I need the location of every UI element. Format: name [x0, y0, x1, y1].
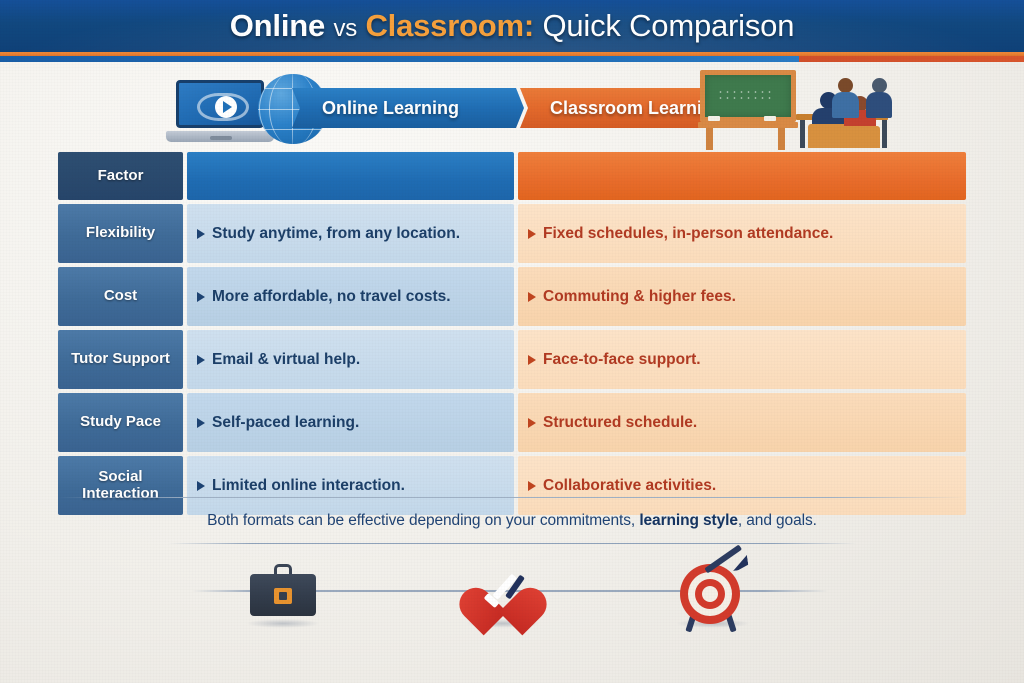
column-banner-row: Online Learning Classroom Learning	[0, 62, 1024, 150]
cell-online-cost-text: More affordable, no travel costs.	[212, 288, 451, 306]
triangle-bullet-icon	[197, 481, 205, 491]
target-arrow-icon	[658, 552, 768, 638]
header-banner: Online vs Classroom: Quick Comparison	[0, 0, 1024, 52]
play-button-icon	[215, 96, 237, 118]
row-label-social-interaction: Social Interaction	[58, 456, 183, 515]
checkmark-icon	[486, 582, 520, 602]
cell-classroom-social-interaction: Collaborative activities.	[518, 456, 966, 515]
table-row: Social Interaction Limited online intera…	[58, 456, 966, 515]
cell-online-social-interaction-text: Limited online interaction.	[212, 477, 405, 495]
footer-note-emphasis: learning style	[639, 512, 738, 529]
row-label-tutor-support: Tutor Support	[58, 330, 183, 389]
cell-classroom-tutor-support: Face-to-face support.	[518, 330, 966, 389]
column-header-classroom	[518, 152, 966, 200]
cell-classroom-social-interaction-text: Collaborative activities.	[543, 477, 716, 495]
cell-classroom-cost: Commuting & higher fees.	[518, 267, 966, 326]
column-header-factor: Factor	[58, 152, 183, 200]
student-head	[838, 78, 853, 93]
page-title: Online vs Classroom: Quick Comparison	[0, 0, 1024, 52]
triangle-bullet-icon	[197, 418, 205, 428]
title-part-vs: vs	[333, 15, 357, 42]
infographic-page: Online vs Classroom: Quick Comparison	[0, 0, 1024, 683]
briefcase-icon	[228, 552, 338, 638]
triangle-bullet-icon	[528, 292, 536, 302]
icon-shadow	[246, 619, 320, 628]
table-header-row: Factor	[58, 152, 966, 200]
laptop-screen	[176, 80, 264, 128]
cell-online-study-pace: Self-paced learning.	[187, 393, 514, 452]
cell-online-study-pace-text: Self-paced learning.	[212, 414, 359, 432]
cell-classroom-study-pace-text: Structured schedule.	[543, 414, 697, 432]
row-label-study-pace: Study Pace	[58, 393, 183, 452]
title-part-subtitle: Quick Comparison	[542, 8, 794, 43]
footer-note-before: Both formats can be effective depending …	[207, 512, 639, 529]
footer-icon-strip	[180, 552, 840, 642]
cell-classroom-tutor-support-text: Face-to-face support.	[543, 351, 701, 369]
row-label-cost: Cost	[58, 267, 183, 326]
chalk-piece	[708, 116, 720, 121]
chalk-piece	[764, 116, 776, 121]
laptop-touchpad	[210, 136, 232, 140]
table-row: Tutor Support Email & virtual help. Face…	[58, 330, 966, 389]
heart-check-icon	[448, 552, 558, 638]
arrow-fletching	[731, 555, 749, 571]
triangle-bullet-icon	[197, 292, 205, 302]
cell-online-flexibility-text: Study anytime, from any location.	[212, 225, 460, 243]
column-header-online	[187, 152, 514, 200]
classroom-illustration	[692, 66, 888, 148]
table-row: Study Pace Self-paced learning. Structur…	[58, 393, 966, 452]
triangle-bullet-icon	[528, 418, 536, 428]
comparison-table: Factor Flexibility Study anytime, from a…	[58, 152, 966, 519]
cell-online-tutor-support-text: Email & virtual help.	[212, 351, 360, 369]
student-head	[872, 78, 887, 93]
chalkboard-icon	[700, 70, 796, 122]
row-label-flexibility: Flexibility	[58, 204, 183, 263]
triangle-bullet-icon	[528, 355, 536, 365]
laptop-base	[166, 131, 274, 142]
student-body	[866, 92, 892, 118]
triangle-bullet-icon	[197, 229, 205, 239]
globe-parallel	[258, 129, 328, 130]
student-chair	[840, 126, 880, 148]
desk-leg	[800, 120, 805, 148]
triangle-bullet-icon	[197, 355, 205, 365]
desk-leg	[882, 120, 887, 148]
footer-divider-top	[58, 497, 966, 498]
triangle-bullet-icon	[528, 481, 536, 491]
cell-online-flexibility: Study anytime, from any location.	[187, 204, 514, 263]
cell-classroom-study-pace: Structured schedule.	[518, 393, 966, 452]
target-bullseye	[702, 586, 718, 602]
briefcase-clasp	[274, 588, 292, 604]
footer-divider-bottom	[168, 543, 856, 544]
cell-classroom-cost-text: Commuting & higher fees.	[543, 288, 736, 306]
chalkboard-leg	[778, 128, 785, 150]
title-part-online: Online	[230, 8, 325, 43]
cell-classroom-flexibility-text: Fixed schedules, in-person attendance.	[543, 225, 833, 243]
student-body	[832, 92, 859, 118]
cell-classroom-flexibility: Fixed schedules, in-person attendance.	[518, 204, 966, 263]
online-learning-banner: Online Learning	[292, 88, 524, 128]
chalkboard-leg	[706, 128, 713, 150]
footer-note-after: , and goals.	[738, 512, 817, 529]
cell-online-social-interaction: Limited online interaction.	[187, 456, 514, 515]
table-row: Cost More affordable, no travel costs. C…	[58, 267, 966, 326]
cell-online-cost: More affordable, no travel costs.	[187, 267, 514, 326]
cell-online-tutor-support: Email & virtual help.	[187, 330, 514, 389]
online-learning-banner-label: Online Learning	[322, 98, 459, 119]
table-row: Flexibility Study anytime, from any loca…	[58, 204, 966, 263]
title-part-classroom: Classroom:	[365, 8, 534, 43]
triangle-bullet-icon	[528, 229, 536, 239]
footer-note: Both formats can be effective depending …	[0, 512, 1024, 530]
